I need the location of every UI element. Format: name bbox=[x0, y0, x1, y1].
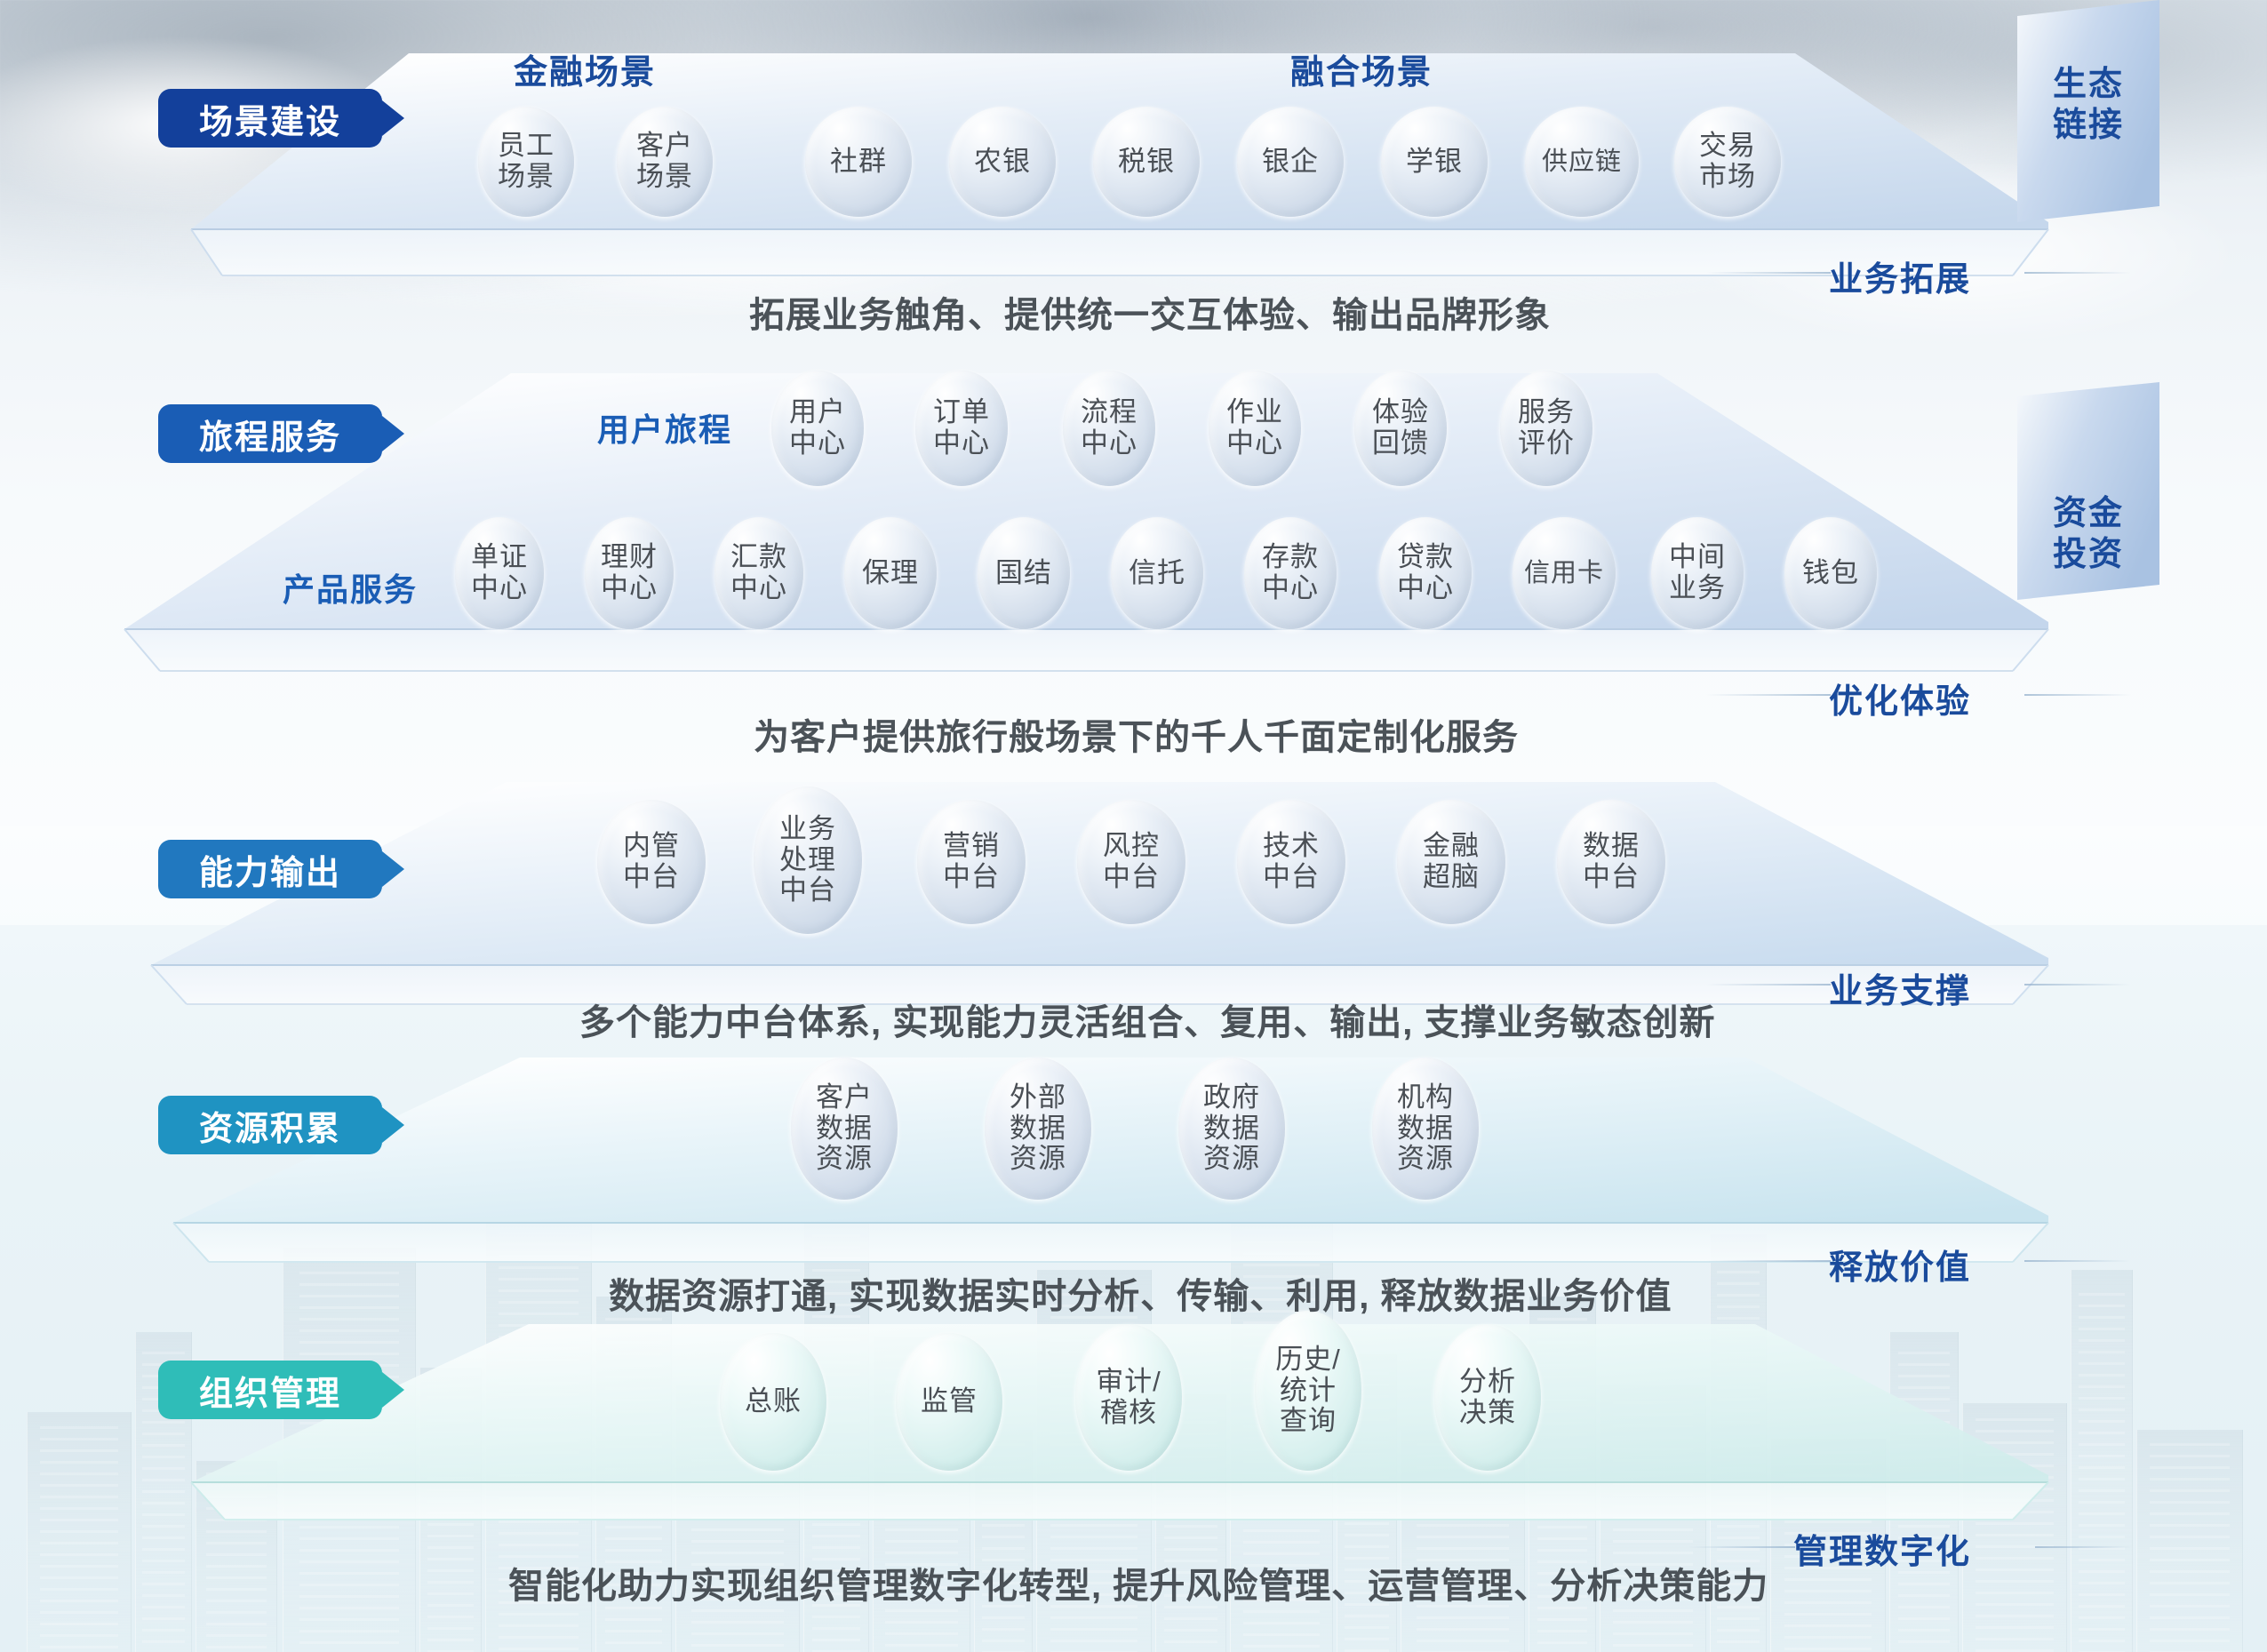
tier-caption-scene-construction: 拓展业务触角、提供统一交互体验、输出品牌形象 bbox=[749, 286, 1551, 338]
bubble-item[interactable]: 政府 数据 资源 bbox=[1178, 1057, 1285, 1200]
bubble-item[interactable]: 国结 bbox=[978, 517, 1070, 629]
bubble-item[interactable]: 业务 处理 中台 bbox=[754, 786, 862, 934]
edge-rule-left bbox=[1706, 1260, 1831, 1262]
bubble-label: 审计/ 稽核 bbox=[1096, 1367, 1161, 1428]
bubble-label: 国结 bbox=[995, 558, 1052, 589]
ribbon-label-ecosystem-link: 生态 链接 bbox=[2033, 64, 2143, 147]
bubble-label: 客户 数据 资源 bbox=[816, 1082, 873, 1175]
tag-notch-icon bbox=[382, 1372, 404, 1408]
bubble-label: 金融 超脑 bbox=[1423, 831, 1480, 892]
bubble-item[interactable]: 交易 市场 bbox=[1674, 107, 1781, 217]
tier-tag-scene-construction[interactable]: 场景建设 bbox=[158, 89, 382, 148]
bubble-item[interactable]: 总账 bbox=[720, 1333, 826, 1471]
group-title-financial-scenarios: 金融场景 bbox=[514, 44, 656, 93]
bubble-item[interactable]: 存款 中心 bbox=[1244, 517, 1337, 629]
edge-rule-right bbox=[2024, 984, 2131, 986]
bubble-label: 政府 数据 资源 bbox=[1203, 1082, 1260, 1175]
bubble-label: 历史/ 统计 查询 bbox=[1275, 1345, 1341, 1437]
group-title-integrated-scenarios: 融合场景 bbox=[1290, 44, 1433, 93]
bubble-label: 员工 场景 bbox=[498, 131, 555, 192]
bubble-label: 供应链 bbox=[1542, 148, 1622, 176]
tag-notch-icon bbox=[382, 851, 404, 887]
bubble-item[interactable]: 理财 中心 bbox=[585, 517, 674, 629]
tag-notch-icon bbox=[382, 416, 404, 451]
bubble-label: 分析 决策 bbox=[1459, 1367, 1516, 1428]
bubble-item[interactable]: 信用卡 bbox=[1513, 517, 1616, 629]
edge-label-business-expansion: 业务拓展 bbox=[1829, 251, 1971, 300]
bubble-label: 银企 bbox=[1262, 147, 1319, 178]
tier-tag-capability-output[interactable]: 能力输出 bbox=[158, 840, 382, 898]
bubble-label: 学银 bbox=[1406, 147, 1463, 178]
bubble-label: 外部 数据 资源 bbox=[1010, 1082, 1066, 1175]
bubble-item[interactable]: 用户 中心 bbox=[771, 371, 864, 486]
bubble-label: 用户 中心 bbox=[789, 397, 846, 459]
tier-slab-resource-accumulation bbox=[173, 1057, 2048, 1262]
edge-rule-right bbox=[2024, 694, 2131, 696]
edge-rule-left bbox=[1706, 694, 1831, 696]
bubble-label: 农银 bbox=[974, 147, 1031, 178]
bubble-label: 总账 bbox=[745, 1386, 802, 1417]
bubble-label: 订单 中心 bbox=[933, 397, 990, 459]
bubble-item[interactable]: 订单 中心 bbox=[915, 371, 1008, 486]
tag-notch-icon bbox=[382, 1107, 404, 1143]
row-label-product-service: 产品服务 bbox=[283, 564, 418, 611]
edge-label-management-digitalization: 管理数字化 bbox=[1793, 1524, 1971, 1573]
ribbon-label-text: 生态 链接 bbox=[2033, 64, 2143, 147]
edge-rule-right bbox=[2024, 272, 2131, 274]
bubble-item[interactable]: 员工 场景 bbox=[478, 107, 574, 217]
tier-tag-journey-service[interactable]: 旅程服务 bbox=[158, 404, 382, 463]
bubble-item[interactable]: 服务 评价 bbox=[1500, 371, 1592, 486]
bubble-label: 钱包 bbox=[1802, 558, 1859, 589]
bubble-label: 体验 回馈 bbox=[1372, 397, 1429, 459]
bubble-label: 机构 数据 资源 bbox=[1397, 1082, 1454, 1175]
bubble-label: 汇款 中心 bbox=[730, 542, 787, 603]
bubble-item[interactable]: 监管 bbox=[896, 1333, 1002, 1471]
bubble-item[interactable]: 外部 数据 资源 bbox=[985, 1057, 1091, 1200]
bubble-item[interactable]: 信托 bbox=[1111, 517, 1203, 629]
bubble-label: 税银 bbox=[1118, 147, 1175, 178]
bubble-label: 单证 中心 bbox=[471, 542, 528, 603]
edge-rule-left bbox=[1688, 1546, 1795, 1548]
bubble-item[interactable]: 作业 中心 bbox=[1209, 371, 1301, 486]
tier-tag-label: 旅程服务 bbox=[199, 410, 341, 459]
tag-notch-icon bbox=[382, 100, 404, 136]
bubble-item[interactable]: 内管 中台 bbox=[597, 800, 706, 924]
bubble-label: 交易 市场 bbox=[1699, 131, 1756, 192]
tier-tag-label: 场景建设 bbox=[199, 94, 341, 143]
bubble-item[interactable]: 营销 中台 bbox=[917, 800, 1026, 924]
bubble-item[interactable]: 供应链 bbox=[1525, 107, 1639, 217]
tier-tag-label: 资源积累 bbox=[199, 1101, 341, 1150]
edge-rule-right bbox=[2035, 1546, 2133, 1548]
edge-rule-right bbox=[2024, 1260, 2131, 1262]
bubble-item[interactable]: 学银 bbox=[1381, 107, 1488, 217]
tier-caption-journey-service: 为客户提供旅行般场景下的千人千面定制化服务 bbox=[754, 708, 1519, 760]
bubble-item[interactable]: 税银 bbox=[1093, 107, 1200, 217]
bubble-item[interactable]: 金融 超脑 bbox=[1397, 800, 1505, 924]
ribbon-label-capital-investment: 资金 投资 bbox=[2033, 493, 2143, 576]
bubble-label: 信托 bbox=[1129, 558, 1185, 589]
tier-caption-organization-management: 智能化助力实现组织管理数字化转型, 提升风险管理、运营管理、分析决策能力 bbox=[508, 1557, 1768, 1608]
tier-caption-resource-accumulation: 数据资源打通, 实现数据实时分析、传输、利用, 释放数据业务价值 bbox=[609, 1267, 1672, 1319]
bubble-label: 中间 业务 bbox=[1669, 542, 1726, 603]
bubble-item[interactable]: 钱包 bbox=[1784, 517, 1877, 629]
bubble-label: 存款 中心 bbox=[1262, 542, 1319, 603]
bubble-label: 业务 处理 中台 bbox=[779, 814, 836, 906]
bubble-item[interactable]: 流程 中心 bbox=[1063, 371, 1155, 486]
bubble-label: 技术 中台 bbox=[1263, 831, 1320, 892]
bubble-label: 流程 中心 bbox=[1081, 397, 1137, 459]
tier-tag-resource-accumulation[interactable]: 资源积累 bbox=[158, 1096, 382, 1154]
bubble-item[interactable]: 体验 回馈 bbox=[1354, 371, 1447, 486]
bubble-label: 保理 bbox=[862, 558, 919, 589]
bubble-label: 监管 bbox=[921, 1386, 978, 1417]
row-label-user-journey: 用户旅程 bbox=[597, 404, 732, 451]
bubble-item[interactable]: 技术 中台 bbox=[1237, 800, 1345, 924]
bubble-item[interactable]: 社群 bbox=[805, 107, 912, 217]
bubble-item[interactable]: 风控 中台 bbox=[1077, 800, 1185, 924]
tier-tag-label: 组织管理 bbox=[199, 1366, 341, 1415]
bubble-label: 数据 中台 bbox=[1583, 831, 1640, 892]
edge-label-business-support: 业务支撑 bbox=[1829, 963, 1971, 1012]
bubble-item[interactable]: 机构 数据 资源 bbox=[1372, 1057, 1479, 1200]
bubble-item[interactable]: 历史/ 统计 查询 bbox=[1255, 1311, 1361, 1471]
bubble-item[interactable]: 客户 数据 资源 bbox=[791, 1057, 898, 1200]
tier-caption-capability-output: 多个能力中台体系, 实现能力灵活组合、复用、输出, 支撑业务敏态创新 bbox=[579, 994, 1715, 1045]
bubble-label: 理财 中心 bbox=[601, 542, 658, 603]
bubble-item[interactable]: 客户 场景 bbox=[617, 107, 713, 217]
bubble-item[interactable]: 数据 中台 bbox=[1557, 800, 1665, 924]
tier-tag-label: 能力输出 bbox=[199, 845, 341, 894]
bubble-label: 作业 中心 bbox=[1226, 397, 1283, 459]
bubble-item[interactable]: 农银 bbox=[949, 107, 1056, 217]
bubble-label: 贷款 中心 bbox=[1397, 542, 1454, 603]
bubble-item[interactable]: 银企 bbox=[1237, 107, 1344, 217]
bubble-label: 服务 评价 bbox=[1518, 397, 1575, 459]
edge-label-optimize-experience: 优化体验 bbox=[1829, 674, 1971, 722]
bubble-label: 风控 中台 bbox=[1103, 831, 1160, 892]
bubble-item[interactable]: 汇款 中心 bbox=[714, 517, 803, 629]
bubble-label: 内管 中台 bbox=[623, 831, 680, 892]
edge-rule-left bbox=[1706, 272, 1831, 274]
bubble-label: 信用卡 bbox=[1524, 559, 1604, 587]
bubble-item[interactable]: 中间 业务 bbox=[1651, 517, 1744, 629]
bubble-item[interactable]: 贷款 中心 bbox=[1379, 517, 1472, 629]
edge-label-release-value: 释放价值 bbox=[1829, 1240, 1971, 1289]
bubble-label: 客户 场景 bbox=[636, 131, 693, 192]
bubble-item[interactable]: 保理 bbox=[844, 517, 937, 629]
bubble-label: 营销 中台 bbox=[943, 831, 1000, 892]
edge-rule-left bbox=[1706, 984, 1831, 986]
ribbon-label-text: 资金 投资 bbox=[2033, 493, 2143, 576]
bubble-item[interactable]: 审计/ 稽核 bbox=[1075, 1324, 1182, 1471]
bubble-item[interactable]: 单证 中心 bbox=[455, 517, 544, 629]
tier-tag-organization-management[interactable]: 组织管理 bbox=[158, 1361, 382, 1419]
bubble-item[interactable]: 分析 决策 bbox=[1434, 1324, 1541, 1471]
bubble-label: 社群 bbox=[830, 147, 887, 178]
